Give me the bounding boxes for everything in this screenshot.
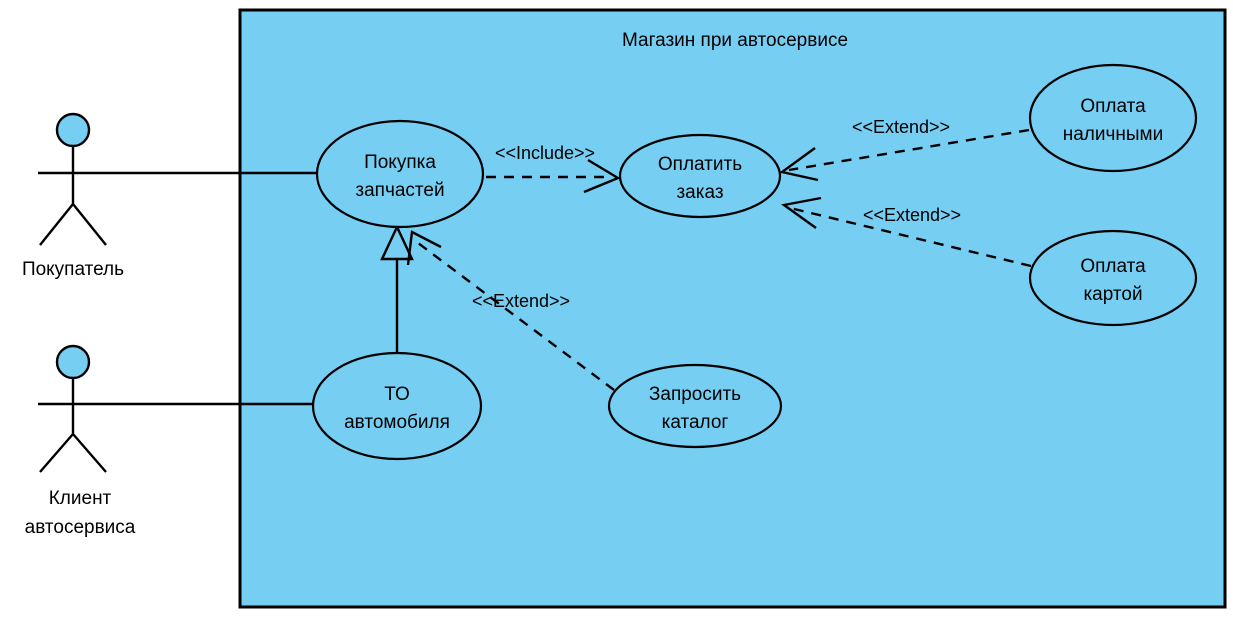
actor-head-icon	[57, 346, 89, 378]
use-case-label-line1: Оплата	[1080, 96, 1146, 117]
actor-klient-avtoservisa[interactable]: Клиент автосервиса	[25, 346, 136, 538]
include-stereotype-label: <<Include>>	[495, 143, 595, 163]
actor-leg-left-line	[40, 204, 73, 245]
actor-leg-left-line	[40, 434, 73, 472]
use-case-label-line2: запчастей	[355, 180, 444, 201]
use-case-ellipse	[1030, 231, 1196, 325]
use-case-oplatit-zakaz[interactable]: Оплатить заказ	[620, 135, 780, 217]
use-case-label-line1: ТО	[384, 384, 410, 405]
use-case-label-line1: Покупка	[364, 152, 436, 173]
use-case-label-line2: картой	[1083, 284, 1142, 305]
actor-klient-label-line1: Клиент	[49, 488, 112, 509]
uml-diagram-canvas: Магазин при автосервисе Покупатель Клиен…	[0, 0, 1233, 621]
use-case-label-line1: Оплата	[1080, 256, 1146, 277]
extend-stereotype-label-middle: <<Extend>>	[472, 291, 570, 311]
use-case-label-line2: наличными	[1063, 124, 1163, 145]
use-case-ellipse	[609, 365, 781, 447]
actor-leg-right-line	[73, 204, 106, 245]
use-case-to-avtomobilya[interactable]: ТО автомобиля	[313, 353, 481, 459]
use-case-label-line1: Запросить	[649, 384, 741, 405]
use-case-label-line1: Оплатить	[658, 154, 742, 175]
actor-pokupatel-label: Покупатель	[22, 259, 124, 280]
use-case-label-line2: автомобиля	[344, 412, 450, 433]
actor-klient-label-line2: автосервиса	[25, 517, 136, 538]
use-case-zaprosit-katalog[interactable]: Запросить каталог	[609, 365, 781, 447]
use-case-ellipse	[1030, 65, 1196, 171]
extend-stereotype-label-top-right: <<Extend>>	[852, 117, 950, 137]
use-case-label-line2: каталог	[662, 412, 729, 433]
use-case-ellipse	[313, 353, 481, 459]
extend-stereotype-label-bottom-right: <<Extend>>	[863, 205, 961, 225]
actor-pokupatel[interactable]: Покупатель	[22, 114, 124, 280]
use-case-pokupka-zapchastey[interactable]: Покупка запчастей	[317, 121, 483, 227]
actor-leg-right-line	[73, 434, 106, 472]
actor-head-icon	[57, 114, 89, 146]
system-boundary-title: Магазин при автосервисе	[622, 30, 848, 51]
use-case-diagram-root: Магазин при автосервисе Покупатель Клиен…	[0, 0, 1233, 621]
use-case-oplata-nalichnymi[interactable]: Оплата наличными	[1030, 65, 1196, 171]
use-case-ellipse	[317, 121, 483, 227]
use-case-ellipse	[620, 135, 780, 217]
use-case-label-line2: заказ	[676, 182, 723, 203]
use-case-oplata-kartoy[interactable]: Оплата картой	[1030, 231, 1196, 325]
